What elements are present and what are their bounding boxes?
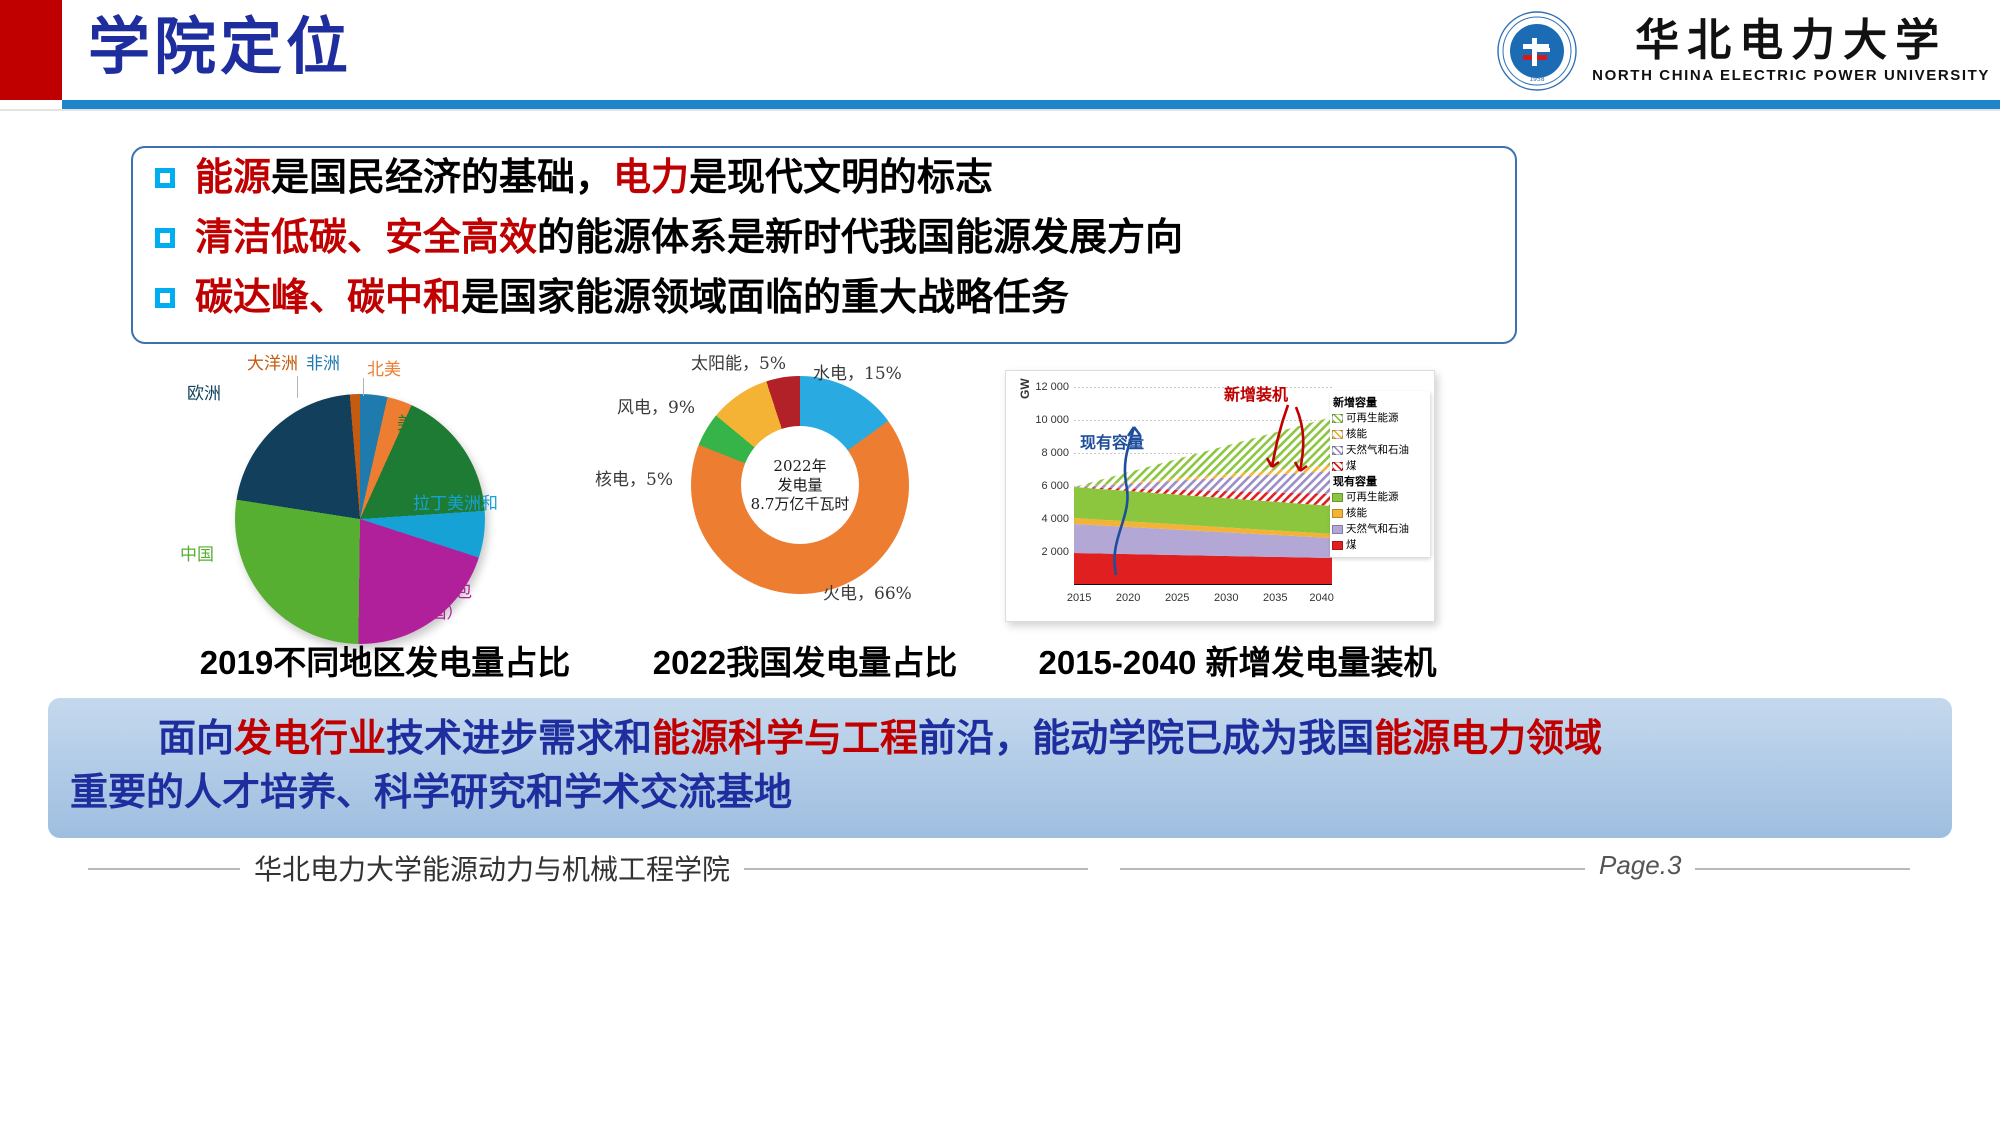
donut-label-nuclear: 核电，5%	[595, 470, 673, 491]
legend-item-existing-coal: 煤	[1332, 538, 1428, 552]
conclusion-line-1: 面向发电行业技术进步需求和能源科学与工程前沿，能动学院已成为我国能源电力领域	[70, 712, 1930, 766]
bullet-2-part-2: 的能源体系是新时代我国能源发展方向	[537, 217, 1183, 259]
xtick-2015: 2015	[1067, 592, 1091, 604]
legend-label-new-coal: 煤	[1346, 459, 1357, 473]
xtick-2025: 2025	[1165, 592, 1189, 604]
svg-text:1958: 1958	[1530, 76, 1545, 83]
area-chart-panel: GW 12 000 10 000 8 000 6 000 4 000 2 000	[1005, 370, 1435, 622]
concl-2-p1: 重要的人才培养、科学研究和学术交流基地	[70, 772, 792, 814]
area-y-axis-unit-label: GW	[1018, 378, 1032, 399]
donut-label-hydro: 水电，15%	[813, 364, 902, 385]
pie1-label-africa: 非洲	[306, 354, 340, 375]
header-blue-rule	[62, 100, 2000, 109]
bullet-3-part-1: 碳达峰、碳中和	[195, 277, 461, 319]
university-logo: 1958 华北电力大学 NORTH CHINA ELECTRIC POWER U…	[1496, 8, 1990, 94]
swatch-green-icon	[1332, 493, 1343, 502]
square-bullet-icon	[155, 288, 175, 308]
ytick-6000: 6 000	[1041, 480, 1069, 492]
ytick-12000: 12 000	[1035, 381, 1069, 393]
donut-center-label: 2022年 发电量 8.7万亿千瓦时	[741, 426, 859, 544]
annotation-existing-capacity: 现有容量	[1080, 429, 1144, 453]
swatch-red-icon	[1332, 541, 1343, 550]
legend-label-new-gas-oil: 天然气和石油	[1346, 443, 1409, 457]
legend-label-existing-nuclear: 核能	[1346, 506, 1367, 520]
pie1-label-usa: 美国	[397, 414, 431, 435]
concl-1-p2: 发电行业	[234, 718, 386, 760]
donut-label-thermal: 火电，66%	[823, 584, 912, 605]
area-chart-series	[1074, 387, 1332, 585]
page-title: 学院定位	[88, 8, 352, 88]
caption-chart-2: 2022我国发电量占比	[595, 636, 1015, 684]
legend-label-existing-gas-oil: 天然气和石油	[1346, 522, 1409, 536]
legend-item-existing-renewables: 可再生能源	[1332, 490, 1428, 504]
pie1-label-europe: 欧洲	[187, 384, 221, 405]
pie1-label-asia: 亚洲（不包 括中国）	[387, 582, 472, 624]
swatch-purple-icon	[1332, 525, 1343, 534]
swatch-hatched-yellow-icon	[1332, 430, 1343, 439]
bullet-1-part-2: 是国民经济的基础，	[271, 157, 613, 199]
donut-center-line-1: 2022年	[773, 457, 826, 476]
footer-page-number: Page.3	[1585, 850, 1695, 881]
chart-capacity-additions: GW 12 000 10 000 8 000 6 000 4 000 2 000	[1005, 352, 1460, 652]
xtick-2020: 2020	[1116, 592, 1140, 604]
xtick-2040: 2040	[1309, 592, 1333, 604]
legend-item-new-nuclear: 核能	[1332, 427, 1428, 441]
university-seal-icon: 1958	[1496, 10, 1578, 92]
donut-label-solar: 太阳能，5%	[691, 354, 786, 375]
bullet-2-part-1: 清洁低碳、安全高效	[195, 217, 537, 259]
conclusion-box: 面向发电行业技术进步需求和能源科学与工程前沿，能动学院已成为我国能源电力领域 重…	[48, 698, 1952, 838]
logo-chinese-name: 华北电力大学	[1635, 16, 1947, 66]
square-bullet-icon	[155, 168, 175, 188]
ytick-4000: 4 000	[1041, 513, 1069, 525]
donut-hole-wrap: 2022年 发电量 8.7万亿千瓦时	[691, 376, 909, 594]
bullet-list-box: 能源是国民经济的基础，电力是现代文明的标志 清洁低碳、安全高效的能源体系是新时代…	[131, 146, 1517, 344]
bullet-3-part-2: 是国家能源领域面临的重大战略任务	[461, 277, 1069, 319]
pie1-label-latam-l2: 加勒比	[430, 515, 481, 535]
bullet-item-2-text: 清洁低碳、安全高效的能源体系是新时代我国能源发展方向	[195, 216, 1183, 260]
header-thin-rule	[0, 109, 2000, 111]
charts-row: 大洋洲 非洲 北美 欧洲 美国 拉丁美洲和 加勒比 中国 亚洲（不包 括中国） …	[0, 352, 2000, 672]
xtick-2030: 2030	[1214, 592, 1238, 604]
xtick-2035: 2035	[1263, 592, 1287, 604]
bullet-item-1: 能源是国民经济的基础，电力是现代文明的标志	[133, 148, 1515, 208]
swatch-yellow-icon	[1332, 509, 1343, 518]
conclusion-line-2: 重要的人才培养、科学研究和学术交流基地	[70, 766, 1930, 820]
slide-footer: 华北电力大学能源动力与机械工程学院 Page.3	[0, 840, 2000, 895]
bullet-1-part-3: 电力	[613, 157, 689, 199]
bullet-1-part-1: 能源	[195, 157, 271, 199]
concl-1-p6: 能源电力领域	[1374, 718, 1602, 760]
bullet-item-3: 碳达峰、碳中和是国家能源领域面临的重大战略任务	[133, 268, 1515, 328]
header-red-accent-bar	[0, 0, 62, 100]
donut-center-line-2: 发电量	[777, 476, 822, 495]
slide-header: 学院定位 1958 华北电力大学 NORTH CHINA ELECTRIC PO…	[0, 0, 2000, 118]
area-chart-plot: 12 000 10 000 8 000 6 000 4 000 2 000	[1074, 387, 1332, 585]
ytick-8000: 8 000	[1041, 447, 1069, 459]
legend-item-existing-nuclear: 核能	[1332, 506, 1428, 520]
ytick-2000: 2 000	[1041, 546, 1069, 558]
concl-1-p3: 技术进步需求和	[386, 718, 652, 760]
pie1-label-latam-l1: 拉丁美洲和	[413, 494, 498, 514]
legend-item-new-gas-oil: 天然气和石油	[1332, 443, 1428, 457]
footer-organization: 华北电力大学能源动力与机械工程学院	[240, 848, 744, 888]
chart-china-generation-mix: 2022年 发电量 8.7万亿千瓦时 太阳能，5% 风电，9% 核电，5% 水电…	[595, 352, 1015, 652]
pie1-leader-oceania	[297, 376, 298, 398]
ytick-10000: 10 000	[1035, 414, 1069, 426]
swatch-hatched-green-icon	[1332, 414, 1343, 423]
bullet-item-1-text: 能源是国民经济的基础，电力是现代文明的标志	[195, 156, 993, 200]
logo-english-name: NORTH CHINA ELECTRIC POWER UNIVERSITY	[1592, 66, 1990, 86]
donut-center-line-3: 8.7万亿千瓦时	[751, 495, 850, 514]
bullet-item-3-text: 碳达峰、碳中和是国家能源领域面临的重大战略任务	[195, 276, 1069, 320]
legend-label-existing-renewables: 可再生能源	[1346, 490, 1399, 504]
pie1-label-asia-l1: 亚洲（不包	[387, 582, 472, 602]
legend-item-existing-gas-oil: 天然气和石油	[1332, 522, 1428, 536]
caption-chart-1: 2019不同地区发电量占比	[175, 636, 595, 684]
pie1-label-asia-l2: 括中国）	[396, 603, 464, 623]
pie1-label-oceania: 大洋洲	[247, 354, 298, 375]
concl-1-p1: 面向	[158, 718, 234, 760]
concl-1-p4: 能源科学与工程	[652, 718, 918, 760]
donut-label-wind: 风电，9%	[617, 398, 695, 419]
area-chart-legend: 新增容量 可再生能源 核能 天然气和石油 煤 现有容量	[1330, 391, 1430, 557]
annotation-new-capacity: 新增装机	[1224, 381, 1288, 405]
legend-group-title-new: 新增容量	[1333, 396, 1428, 410]
concl-1-p5: 前沿，能动学院已成为我国	[918, 718, 1374, 760]
pie1-label-china: 中国	[180, 545, 214, 566]
pie1-label-latam: 拉丁美洲和 加勒比	[413, 494, 498, 536]
swatch-hatched-purple-icon	[1332, 446, 1343, 455]
footer-rule-right	[1120, 868, 1910, 870]
caption-chart-3: 2015-2040 新增发电量装机	[1010, 636, 1465, 684]
legend-label-new-nuclear: 核能	[1346, 427, 1367, 441]
logo-text-block: 华北电力大学 NORTH CHINA ELECTRIC POWER UNIVER…	[1592, 16, 1990, 86]
square-bullet-icon	[155, 228, 175, 248]
pie1-label-north-america: 北美	[367, 360, 401, 381]
pie1-leader-north-america	[363, 378, 364, 396]
bullet-item-2: 清洁低碳、安全高效的能源体系是新时代我国能源发展方向	[133, 208, 1515, 268]
legend-label-existing-coal: 煤	[1346, 538, 1357, 552]
legend-label-new-renewables: 可再生能源	[1346, 411, 1399, 425]
legend-group-title-existing: 现有容量	[1333, 475, 1428, 489]
legend-item-new-renewables: 可再生能源	[1332, 411, 1428, 425]
swatch-hatched-red-icon	[1332, 462, 1343, 471]
bullet-1-part-4: 是现代文明的标志	[689, 157, 993, 199]
legend-item-new-coal: 煤	[1332, 459, 1428, 473]
chart-regional-generation-share: 大洋洲 非洲 北美 欧洲 美国 拉丁美洲和 加勒比 中国 亚洲（不包 括中国）	[175, 352, 595, 652]
